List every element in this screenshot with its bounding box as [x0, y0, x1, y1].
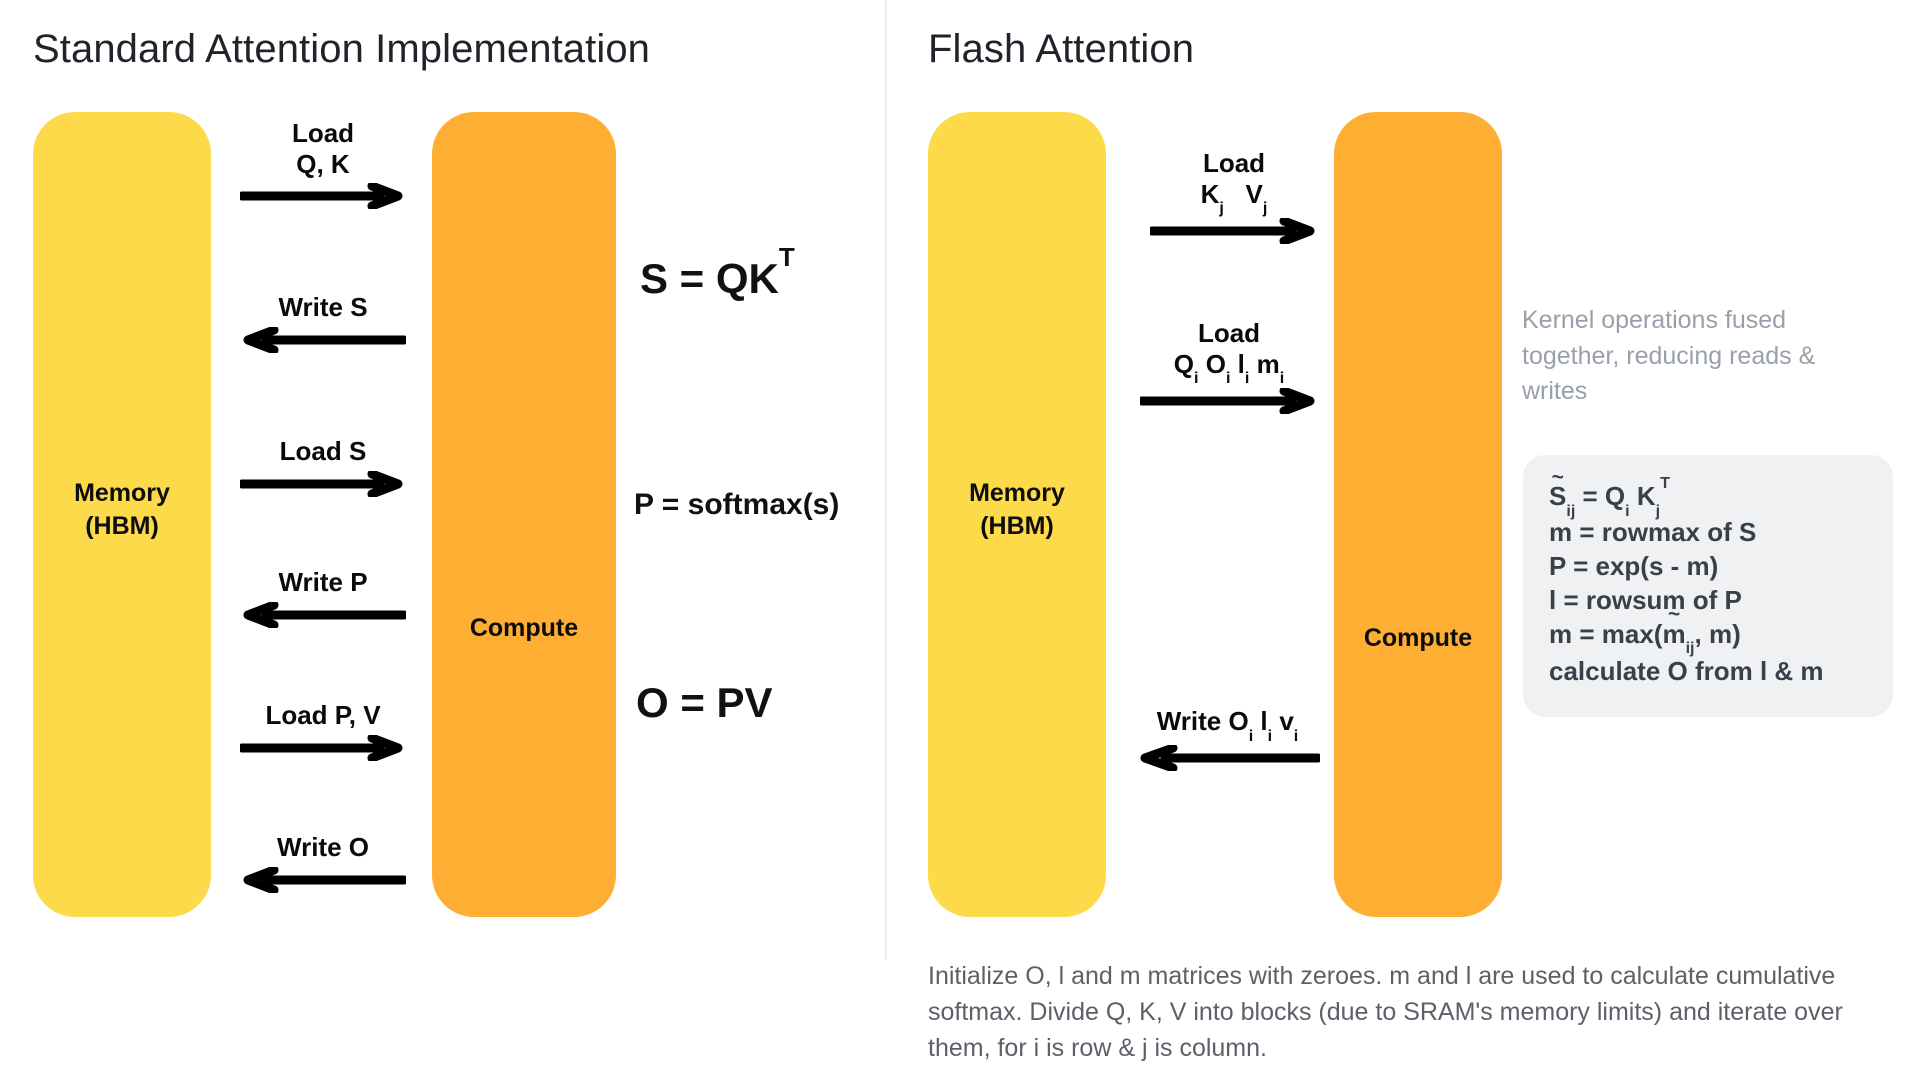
- flow-load-kv-line1: Load: [1150, 148, 1318, 179]
- arrow-left-icon: [240, 867, 406, 893]
- flow-load-pv-line1: Load P, V: [240, 700, 406, 731]
- compute-label-right: Compute: [1334, 622, 1502, 655]
- arrow-right-icon: [1150, 218, 1318, 244]
- flow-write-p-text: Write P: [240, 567, 406, 598]
- flow-write-o: Write O: [240, 832, 406, 893]
- arrow-left-icon: [240, 327, 406, 353]
- flow-load-pv-text: Load P, V: [240, 700, 406, 731]
- flow-write-o-line1: Write O: [240, 832, 406, 863]
- formula-s-base: S = QK: [640, 255, 779, 302]
- memory-hbm-label-right: Memory (HBM): [928, 477, 1106, 542]
- flow-write-oi-li-vi: Write Oi li vi: [1135, 706, 1320, 771]
- formula-o-equals-pv: O = PV: [636, 679, 773, 727]
- page-title-standard: Standard Attention Implementation: [33, 27, 650, 72]
- flow-load-s-line1: Load S: [240, 436, 406, 467]
- flow-load-qk-text: Load Q, K: [240, 118, 406, 179]
- arrow-left-icon: [240, 602, 406, 628]
- flow-write-s-line1: Write S: [240, 292, 406, 323]
- flow-load-qolm-line2: Qi Oi li mi: [1140, 349, 1318, 384]
- formula-m-max: m = max(~mij, m): [1549, 618, 1867, 655]
- flow-write-o-text: Write O: [240, 832, 406, 863]
- formula-p-exp: P = exp(s - m): [1549, 550, 1867, 584]
- formula-m-rowmax: m = rowmax of S: [1549, 516, 1867, 550]
- flow-load-pv: Load P, V: [240, 700, 406, 761]
- arrow-right-icon: [240, 183, 406, 209]
- formula-l-rowsum: l = rowsum of P: [1549, 584, 1867, 618]
- memory-hbm-block-right: Memory (HBM): [928, 112, 1106, 917]
- flow-load-kv-text: Load Kj Vj: [1150, 148, 1318, 214]
- flow-load-kj-vj: Load Kj Vj: [1150, 148, 1318, 244]
- arrow-right-icon: [240, 735, 406, 761]
- compute-block-right: Compute: [1334, 112, 1502, 917]
- arrow-left-icon: [1135, 745, 1320, 771]
- memory-hbm-label-left: Memory (HBM): [33, 477, 211, 542]
- flow-write-p-line1: Write P: [240, 567, 406, 598]
- kernel-fusion-note: Kernel operations fused together, reduci…: [1522, 303, 1882, 410]
- flow-load-qk-line1: Load: [240, 118, 406, 149]
- flow-load-kv-line2: Kj Vj: [1150, 179, 1318, 214]
- flow-load-s: Load S: [240, 436, 406, 497]
- formula-sij: ~Sij = Qi KjT: [1549, 481, 1867, 516]
- compute-label-left: Compute: [432, 612, 616, 645]
- flow-write-s-text: Write S: [240, 292, 406, 323]
- page-title-flash: Flash Attention: [928, 27, 1194, 72]
- flow-load-qi-oi-li-mi: Load Qi Oi li mi: [1140, 318, 1318, 414]
- formula-s-superscript-t: T: [779, 242, 795, 272]
- flow-write-olv-line1: Write Oi li vi: [1135, 706, 1320, 741]
- formula-s-equals-qkt: S = QKT: [640, 254, 795, 303]
- standard-attention-panel: Standard Attention Implementation Memory…: [0, 0, 885, 1080]
- formula-p-equals-softmax: P = softmax(s): [634, 488, 839, 522]
- flow-write-olv-text: Write Oi li vi: [1135, 706, 1320, 741]
- diagram-caption: Initialize O, l and m matrices with zero…: [928, 958, 1896, 1066]
- flow-write-p: Write P: [240, 567, 406, 628]
- flow-load-qk: Load Q, K: [240, 118, 406, 209]
- flow-write-s: Write S: [240, 292, 406, 353]
- flash-attention-formula-card: ~Sij = Qi KjT m = rowmax of S P = exp(s …: [1523, 455, 1893, 717]
- formula-calculate-o: calculate O from l & m: [1549, 655, 1867, 689]
- flow-load-qolm-line1: Load: [1140, 318, 1318, 349]
- arrow-right-icon: [1140, 388, 1318, 414]
- flow-load-s-text: Load S: [240, 436, 406, 467]
- flow-load-qolm-text: Load Qi Oi li mi: [1140, 318, 1318, 384]
- memory-hbm-block-left: Memory (HBM): [33, 112, 211, 917]
- flow-load-qk-line2: Q, K: [240, 149, 406, 180]
- arrow-right-icon: [240, 471, 406, 497]
- compute-block-left: Compute: [432, 112, 616, 917]
